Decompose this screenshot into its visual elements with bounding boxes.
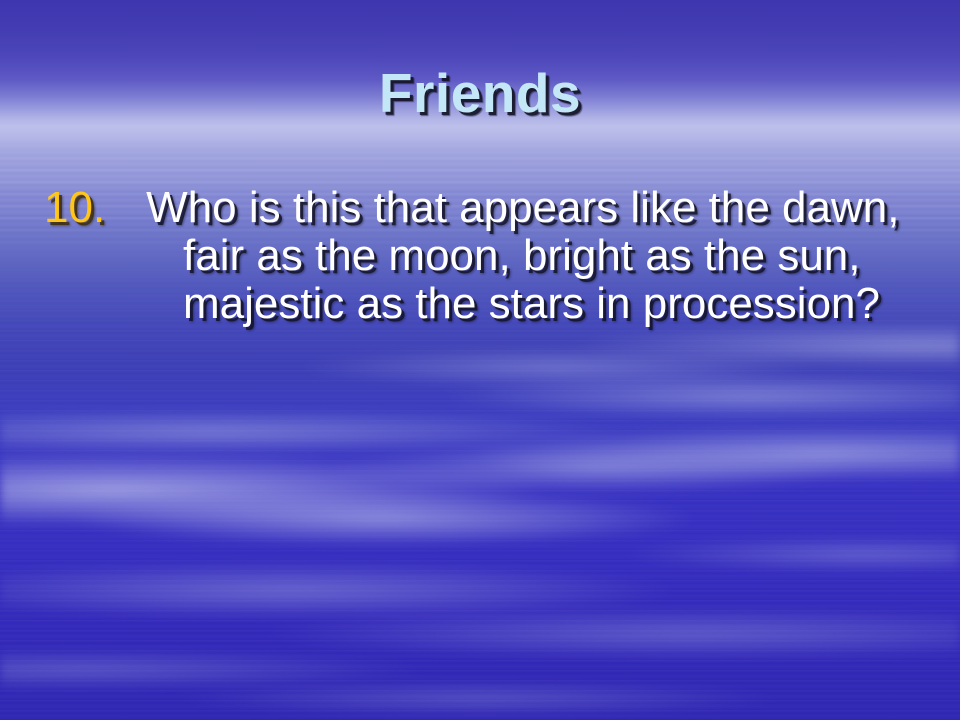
body-line-1-text: Who is this that appears like the dawn,	[146, 183, 899, 232]
body-line-1: 10.Who is this that appears like the daw…	[44, 184, 924, 232]
slide-body: 10.Who is this that appears like the daw…	[44, 184, 924, 328]
bullet-number: 10.	[44, 183, 105, 232]
presentation-slide: Friends 10.Who is this that appears like…	[0, 0, 960, 720]
body-line-3: majestic as the stars in procession?	[44, 280, 924, 328]
slide-title: Friends	[0, 66, 960, 121]
body-line-2: fair as the moon, bright as the sun,	[44, 232, 924, 280]
